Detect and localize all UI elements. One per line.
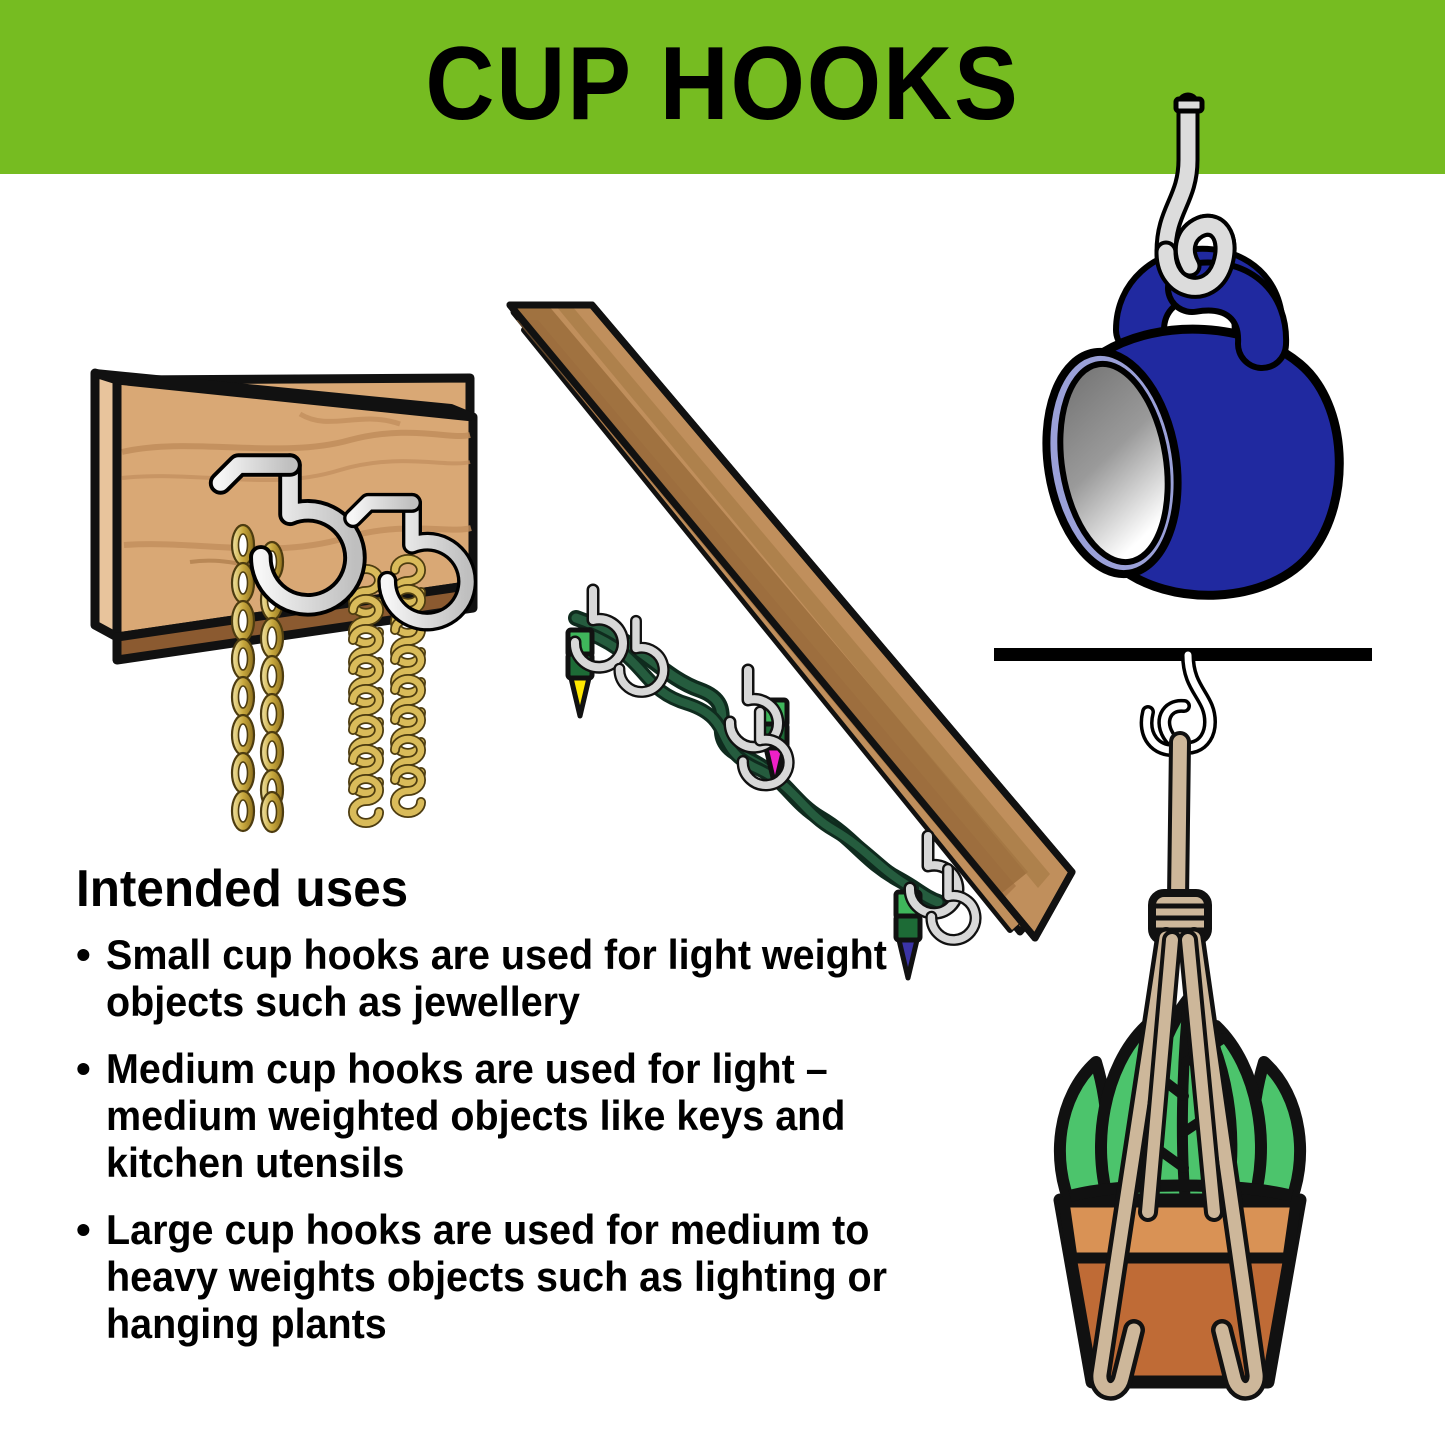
cup-hook-icon [743, 712, 789, 785]
ceiling-rail [994, 648, 1372, 661]
list-item: • Large cup hooks are used for medium to… [76, 1206, 956, 1347]
plant-pot [1060, 1186, 1300, 1383]
wood-board-face [117, 380, 473, 637]
list-item: • Medium cup hooks are used for light – … [76, 1045, 956, 1186]
bullet-glyph: • [76, 1206, 106, 1253]
link-chain-left [232, 525, 283, 832]
cup-hook-icon [353, 503, 467, 622]
cup-hook-icon [575, 590, 623, 667]
beam-body [510, 305, 1072, 938]
macrame-rope [1100, 938, 1256, 1390]
cup-hook-icon [221, 465, 355, 605]
intended-uses-heading: Intended uses [76, 862, 912, 917]
cup-hook-icon [730, 670, 778, 747]
page-title: CUP HOOKS [58, 0, 1387, 174]
plant-leaves [1060, 1000, 1300, 1212]
use-text-medium: Medium cup hooks are used for light – me… [106, 1045, 905, 1186]
light-bulb-magenta [763, 700, 787, 786]
bullet-glyph: • [76, 931, 106, 978]
intended-uses-block: Intended uses • Small cup hooks are used… [76, 862, 956, 1367]
list-item: • Small cup hooks are used for light wei… [76, 931, 956, 1025]
cup-hook-icon [619, 621, 663, 692]
s-hook-icon [1147, 655, 1210, 750]
use-text-small: Small cup hooks are used for light weigh… [106, 931, 905, 1025]
wood-board-illustration [95, 373, 473, 832]
rope-knot [1152, 893, 1208, 941]
use-text-large: Large cup hooks are used for medium to h… [106, 1206, 905, 1347]
bullet-glyph: • [76, 1045, 106, 1092]
hanging-plant-illustration [994, 648, 1372, 1390]
light-bulb-yellow [568, 630, 592, 716]
rope-chain-right [353, 559, 421, 823]
cup-hooks-infographic: CUP HOOKS [0, 0, 1445, 1445]
